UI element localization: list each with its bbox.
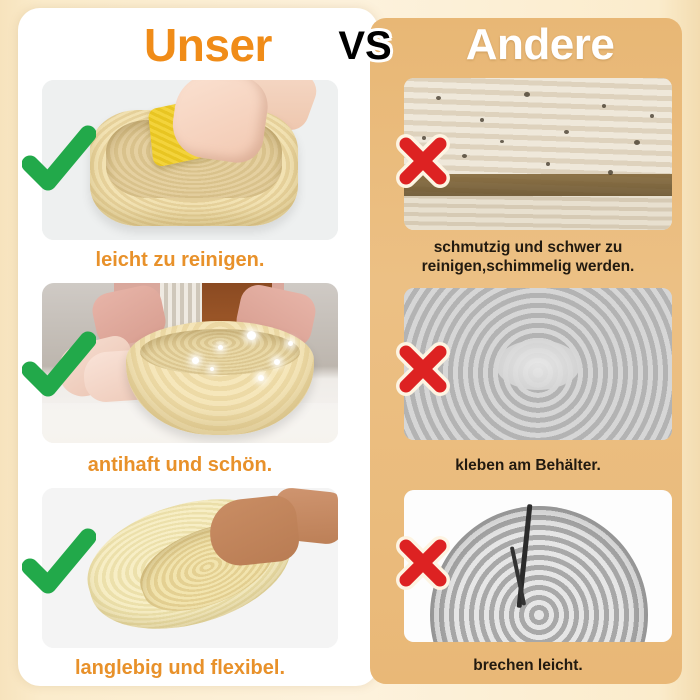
ours-title: Unser [118,16,298,74]
ours-caption-1: leicht zu reinigen. [18,247,342,273]
cross-icon [392,532,454,594]
theirs-caption-2: kleben am Behälter. [382,456,674,475]
comparison-infographic: Unser VS Andere leicht zu reinigen. [0,0,700,700]
theirs-caption-1: schmutzig und schwer zu reinigen,schimme… [382,238,674,276]
theirs-caption-3: brechen leicht. [382,656,674,675]
cross-icon [392,338,454,400]
check-icon [22,527,96,601]
ours-caption-2: antihaft und schön. [18,452,342,478]
theirs-title: Andere [430,16,650,74]
check-icon [22,124,96,198]
vs-label: VS [320,18,410,74]
cross-icon [392,130,454,192]
header: Unser VS Andere [0,16,700,76]
ours-caption-3: langlebig und flexibel. [18,655,342,681]
check-icon [22,330,96,404]
